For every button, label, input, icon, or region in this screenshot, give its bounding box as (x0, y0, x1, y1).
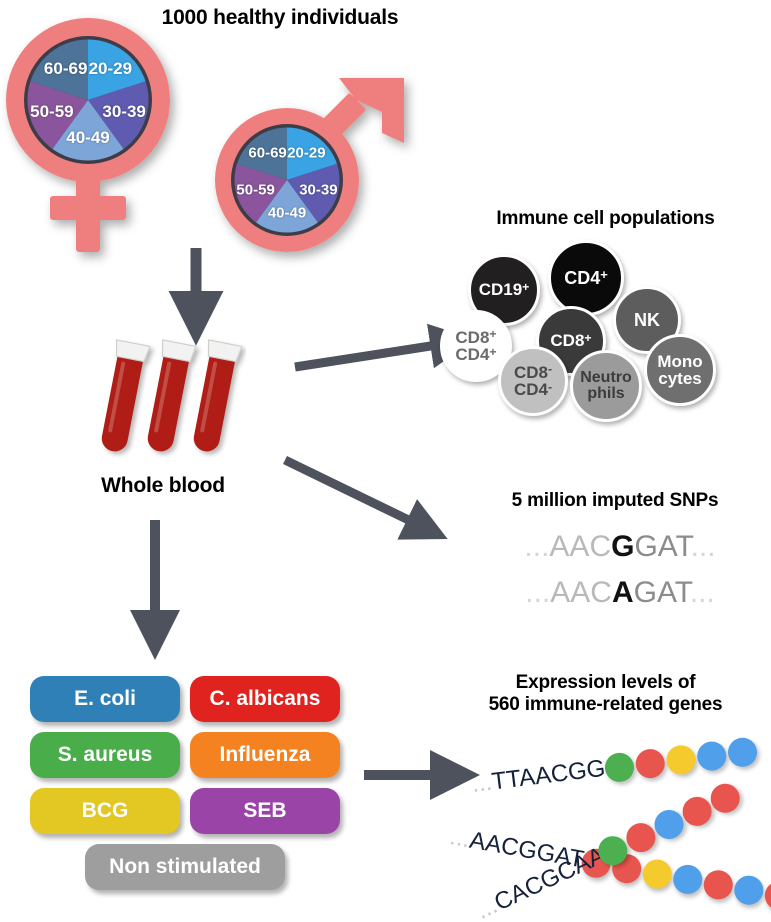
gene-bead-blue (671, 862, 705, 896)
snp-variant-base: A (612, 576, 634, 609)
pie-label-20-29: 20-29 (89, 59, 132, 79)
arrow-blood-to-immune (295, 343, 450, 367)
stimuli-row: E. coliC. albicans (30, 676, 340, 722)
snp-prefix-ellipsis: ... (525, 576, 550, 609)
immune-cell-label: CD8-CD4- (514, 364, 552, 399)
stimuli-row: Non stimulated (30, 844, 340, 890)
stimuli-panel: E. coliC. albicansS. aureusInfluenzaBCGS… (30, 676, 340, 900)
snp-right-bases: GAT (634, 530, 690, 563)
expression-strands: ...TTAACGG...AACGGAT...CACGCAA (450, 720, 771, 920)
label-whole-blood: Whole blood (58, 474, 268, 499)
stimulus-bcg[interactable]: BCG (30, 788, 180, 834)
snp-variant-base: G (611, 530, 634, 563)
tube-2 (142, 340, 196, 454)
snp-sequence-row: ...AACGGAT... (470, 530, 770, 564)
tube-group (96, 340, 242, 454)
stimulus-influenza[interactable]: Influenza (190, 732, 340, 778)
figure-canvas: 1000 healthy individuals 20-2930-3940-49… (0, 0, 771, 922)
male-gender-symbol: 20-2930-3940-4950-5960-69 (204, 70, 419, 270)
snp-left-bases: AAC (549, 530, 611, 563)
immune-cell-label: Monocytes (657, 353, 702, 388)
immune-cell-cd8-cd4[interactable]: CD8-CD4- (498, 346, 568, 416)
immune-cell-cd4[interactable]: CD4+ (548, 240, 624, 316)
stimuli-row: BCGSEB (30, 788, 340, 834)
snp-suffix-ellipsis: ... (691, 530, 716, 563)
stimulus-e-coli[interactable]: E. coli (30, 676, 180, 722)
gene-bead-red (701, 867, 735, 901)
section-title-immune-cells: Immune cell populations (440, 208, 771, 230)
snp-right-bases: GAT (634, 576, 690, 609)
expression-title-line1: Expression levels of (440, 672, 771, 694)
pie-label-50-59: 50-59 (236, 182, 274, 199)
strand-sequence: TTAACGG (490, 755, 607, 796)
immune-cell-cluster: CD19+CD4+CD8+CD4+CD8+NKCD8-CD4-Neutrophi… (440, 238, 771, 428)
blood-tubes-svg (96, 336, 246, 466)
immune-cell-label: CD19+ (479, 281, 530, 298)
immune-cell-mono-cytes[interactable]: Monocytes (644, 334, 716, 406)
snp-sequence-row: ...AACAGAT... (470, 576, 770, 610)
stimulus-seb[interactable]: SEB (190, 788, 340, 834)
immune-cell-label: NK (634, 311, 660, 329)
pie-label-60-69: 60-69 (44, 59, 87, 79)
pie-label-30-39: 30-39 (299, 182, 337, 199)
arrow-blood-to-snps (285, 460, 425, 528)
section-title-snps: 5 million imputed SNPs (455, 490, 771, 512)
gene-bead-blue (732, 873, 766, 907)
pie-label-30-39: 30-39 (102, 102, 145, 122)
tube-3 (188, 340, 242, 454)
gene-bead-yellow (640, 857, 674, 891)
gene-bead-blue (695, 739, 727, 771)
snp-suffix-ellipsis: ... (690, 576, 715, 609)
gene-bead-red (634, 747, 666, 779)
pie-label-20-29: 20-29 (287, 145, 325, 162)
snp-sequences: ...AACGGAT......AACAGAT... (470, 530, 770, 620)
pie-label-40-49: 40-49 (66, 128, 109, 148)
female-gender-symbol: 20-2930-3940-4950-5960-69 (6, 10, 206, 260)
stimulus-s-aureus[interactable]: S. aureus (30, 732, 180, 778)
tube-1 (96, 340, 150, 454)
blood-tubes (96, 336, 246, 471)
stimulus-non-stimulated[interactable]: Non stimulated (85, 844, 285, 890)
pie-label-40-49: 40-49 (268, 205, 306, 222)
snp-prefix-ellipsis: ... (524, 530, 549, 563)
stimuli-row: S. aureusInfluenza (30, 732, 340, 778)
male-symbol-svg (204, 70, 419, 270)
pie-label-50-59: 50-59 (30, 102, 73, 122)
immune-cell-label: CD8+ (550, 332, 591, 349)
gene-bead-yellow (664, 743, 696, 775)
snp-left-bases: AAC (550, 576, 612, 609)
expression-title-line2: 560 immune-related genes (440, 694, 771, 716)
stimulus-c-albicans[interactable]: C. albicans (190, 676, 340, 722)
gene-bead-red (762, 878, 771, 912)
gene-bead-green (603, 751, 635, 783)
pie-label-60-69: 60-69 (248, 145, 286, 162)
immune-cell-label: CD8+CD4+ (455, 329, 496, 364)
immune-cell-label: Neutrophils (580, 370, 632, 403)
section-title-expression: Expression levels of 560 immune-related … (440, 672, 771, 717)
immune-cell-neutro-phils[interactable]: Neutrophils (570, 350, 642, 422)
gene-bead-blue (726, 736, 758, 768)
immune-cell-label: CD4+ (564, 269, 608, 287)
